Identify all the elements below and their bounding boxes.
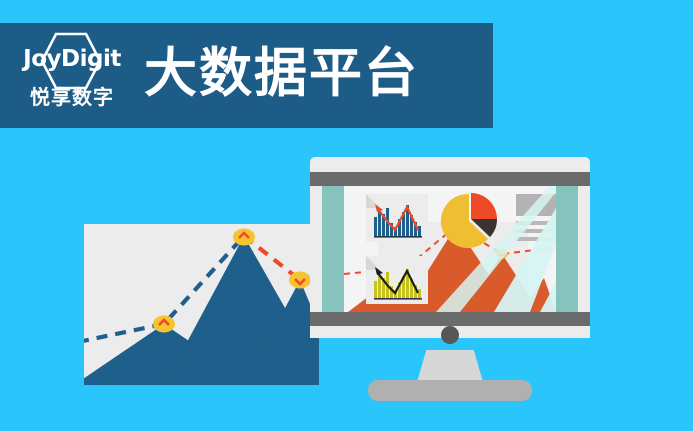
- page-title: 大数据平台: [144, 47, 419, 104]
- monitor: [310, 157, 590, 394]
- placeholder-image: [516, 194, 556, 216]
- mountain-chart-blue: [84, 224, 319, 385]
- monitor-screen: [322, 186, 578, 312]
- header-banner: JoyDigit 悦享数字 大数据平台: [0, 23, 493, 128]
- pie-slice-red: [471, 193, 497, 219]
- logo-wordmark: JoyDigit: [23, 46, 121, 72]
- monitor-bezel-top: [310, 172, 590, 186]
- pie-chart[interactable]: [440, 192, 502, 252]
- screen-edge-right: [556, 186, 578, 312]
- text-placeholder-block: [516, 194, 556, 241]
- monitor-stand-neck: [417, 350, 483, 382]
- placeholder-line: [516, 221, 556, 225]
- monitor-stand-base: [368, 380, 532, 401]
- logo-subtitle: 悦享数字: [30, 81, 114, 110]
- webcam-icon: [441, 326, 459, 344]
- logo: JoyDigit 悦享数字: [12, 28, 132, 124]
- placeholder-line: [516, 237, 556, 241]
- screen-canvas: [344, 186, 556, 312]
- arrow-up-icon: [375, 204, 383, 212]
- data-point-marker: [289, 272, 311, 289]
- bar-chart-olive: [374, 262, 422, 300]
- arrow-up-icon: [375, 267, 383, 275]
- screen-edge-left: [322, 186, 344, 312]
- card-bar-chart-olive[interactable]: [366, 256, 428, 304]
- placeholder-line: [516, 229, 556, 233]
- bar-chart-blue: [374, 200, 422, 238]
- monitor-bezel-bottom: [310, 312, 590, 326]
- data-point-marker: [233, 229, 255, 246]
- data-point-marker: [153, 316, 175, 333]
- left-mountain-panel: [84, 224, 319, 385]
- card-bar-chart-blue[interactable]: [366, 194, 428, 242]
